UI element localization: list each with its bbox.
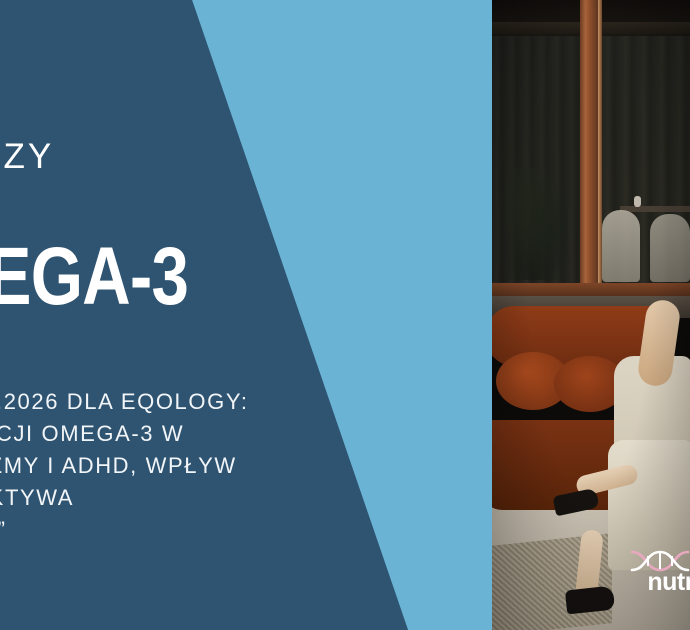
subtitle-line-2: ………NTACJI OMEGA-3 W	[0, 418, 518, 450]
presentation-slide: MIĘDZY OMEGA-3 …………….2026 DLA EQOLOGY: ……	[0, 0, 690, 630]
slide-headline: OMEGA-3	[0, 236, 405, 318]
logo-wordmark: nutr	[647, 568, 690, 597]
brand-logo: nutr	[624, 550, 690, 600]
interior-photo	[492, 0, 690, 630]
slide-subtitle: …………….2026 DLA EQOLOGY: ………NTACJI OMEGA-…	[0, 386, 518, 546]
slide-text-layer: MIĘDZY OMEGA-3 …………….2026 DLA EQOLOGY: ……	[0, 0, 492, 630]
slide-eyebrow: MIĘDZY	[0, 137, 324, 177]
photo-vignette	[492, 0, 690, 630]
subtitle-line-4: …………EKTYWA	[0, 482, 518, 514]
subtitle-line-3: …………YZMY I ADHD, WPŁYW	[0, 450, 518, 482]
subtitle-line-5: ………ZNA”	[0, 514, 518, 546]
subtitle-line-1: …………….2026 DLA EQOLOGY:	[0, 386, 518, 418]
